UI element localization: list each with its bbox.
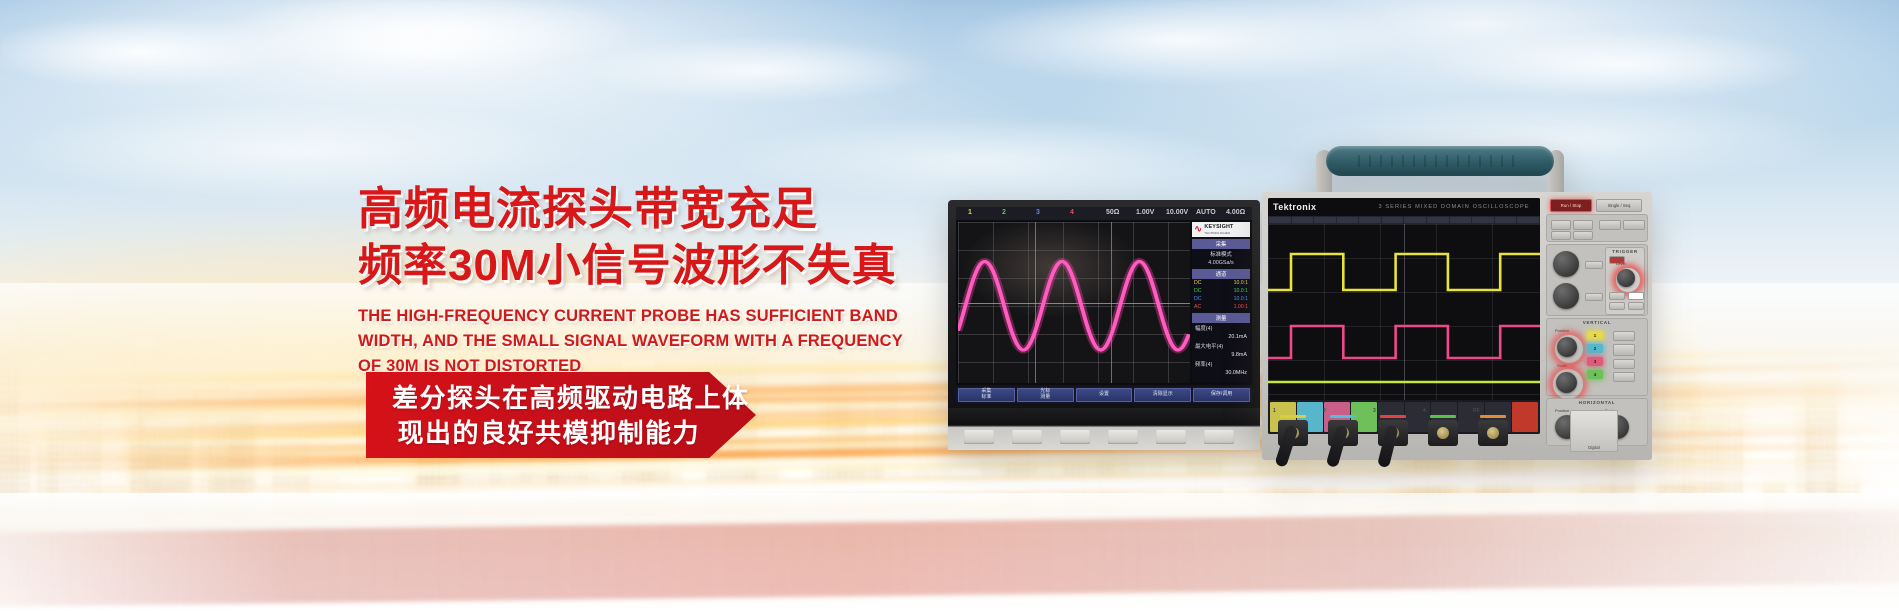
scope-a-softkey[interactable]: 采集标准: [958, 388, 1015, 402]
scope-a-channel-row: AC1.00:1: [1192, 303, 1250, 311]
scope-a-softkey-bar[interactable]: 采集标准光标测量设置清除显示保存/调用: [956, 387, 1252, 403]
trigger-slope-button[interactable]: [1628, 292, 1644, 300]
multipurpose-knob-b[interactable]: [1553, 283, 1579, 309]
scope-a-measurement-row: 幅度(4)20.1mA: [1192, 323, 1250, 341]
scope-b-display-header: Tektronix 3 SERIES MIXED DOMAIN OSCILLOS…: [1268, 198, 1540, 216]
scope-a-front-button[interactable]: [964, 430, 994, 444]
scope-a-readout: 4.00Ω: [1226, 209, 1245, 216]
scope-a-channel-row: DC10.0:1: [1192, 279, 1250, 287]
ribbon-line-2: 现出的良好共模抑制能力: [392, 416, 750, 451]
scope-a-channel-row: DC10.0:1: [1192, 295, 1250, 303]
tektronix-model: 3 SERIES MIXED DOMAIN OSCILLOSCOPE: [1378, 204, 1529, 210]
scope-a-measurement-row: 频率(4)30.0MHz: [1192, 359, 1250, 377]
scope-b-menu-item[interactable]: [1337, 217, 1359, 223]
scope-a-measurement-rows: 幅度(4)20.1mA最大电平(4)9.8mA频率(4)30.0MHz: [1192, 323, 1250, 377]
english-subtitle: THE HIGH-FREQUENCY CURRENT PROBE HAS SUF…: [358, 304, 918, 379]
trigger-level-knob[interactable]: [1617, 269, 1635, 287]
scope-b-menu-item[interactable]: [1404, 217, 1426, 223]
scope-b-waveform-traces: [1268, 224, 1540, 400]
tektronix-oscilloscope: Tektronix 3 SERIES MIXED DOMAIN OSCILLOS…: [1262, 150, 1652, 460]
scope-b-menu-item[interactable]: [1517, 217, 1539, 223]
scope-a-readout: 50Ω: [1106, 209, 1119, 216]
vertical-scale-knob[interactable]: [1556, 372, 1577, 393]
scope-b-menu-item[interactable]: [1292, 217, 1314, 223]
scope-b-menu-item[interactable]: [1495, 217, 1517, 223]
scope-a-softkey[interactable]: 清除显示: [1134, 388, 1191, 402]
scope-a-channel-label-1: 1: [968, 209, 972, 216]
english-line-1: THE HIGH-FREQUENCY CURRENT PROBE HAS SUF…: [358, 304, 918, 329]
digital-module-label: Digital: [1571, 445, 1617, 450]
scope-b-menu-item[interactable]: [1382, 217, 1404, 223]
scope-a-channel-row: DC10.0:1: [1192, 287, 1250, 295]
trigger-source-button[interactable]: [1609, 302, 1625, 310]
scope-b-menu-item[interactable]: [1314, 217, 1336, 223]
bnc-connector-4[interactable]: [1428, 420, 1458, 446]
ribbon-text: 差分探头在高频驱动电路上体 现出的良好共模抑制能力: [392, 381, 750, 450]
scope-a-sine-trace: [958, 222, 1190, 383]
scope-a-front-panel: [948, 408, 1260, 450]
multipurpose-knob-a[interactable]: [1553, 251, 1579, 277]
scope-b-connector-row: 1234RF: [1268, 402, 1546, 458]
connector-color-bar: [1330, 415, 1356, 418]
scope-a-sidebar: ∿ KEYSIGHT TECHNOLOGIES 采集 标准模式 4.00GSa/…: [1192, 222, 1250, 383]
scope-a-ch-header: 通道: [1192, 269, 1250, 279]
channel-button-1[interactable]: 1: [1587, 331, 1603, 340]
utility-btn-1[interactable]: [1551, 220, 1571, 230]
utility-btn-6[interactable]: [1573, 231, 1593, 240]
utility-btn-4[interactable]: [1623, 220, 1645, 230]
knob-b-button[interactable]: [1585, 293, 1603, 301]
scope-a-front-button[interactable]: [1204, 430, 1234, 444]
headline-block: 高频电流探头带宽充足 频率30M小信号波形不失真 THE HIGH-FREQUE…: [358, 182, 918, 379]
promo-banner: 高频电流探头带宽充足 频率30M小信号波形不失真 THE HIGH-FREQUE…: [0, 0, 1899, 613]
scope-b-menu-item[interactable]: [1427, 217, 1449, 223]
scope-b-menu-item[interactable]: [1450, 217, 1472, 223]
scope-a-front-button[interactable]: [1060, 430, 1090, 444]
handle-grip: [1326, 146, 1554, 176]
connector-color-bar: [1380, 415, 1406, 418]
scope-b-display: Tektronix 3 SERIES MIXED DOMAIN OSCILLOS…: [1268, 198, 1540, 434]
scope-b-chassis: Tektronix 3 SERIES MIXED DOMAIN OSCILLOS…: [1262, 192, 1652, 460]
connector-label-3: 3: [1373, 408, 1376, 414]
scope-a-channel-label-3: 3: [1036, 209, 1040, 216]
channel-button-3[interactable]: 3: [1587, 357, 1603, 366]
utility-button-group: [1546, 214, 1648, 242]
keysight-brand-sub: TECHNOLOGIES: [1204, 231, 1230, 235]
connector-label-RF: RF: [1473, 408, 1480, 414]
scope-b-graticule: [1268, 224, 1540, 400]
trigger-mode-button[interactable]: [1609, 292, 1625, 300]
utility-btn-3[interactable]: [1599, 220, 1621, 230]
scope-b-menu-item[interactable]: [1472, 217, 1494, 223]
scope-a-graticule: [958, 222, 1190, 383]
knob-a-button[interactable]: [1585, 261, 1603, 269]
scope-a-acq-header: 采集: [1192, 239, 1250, 249]
scope-a-meas-header: 测量: [1192, 313, 1250, 323]
scope-b-menu-item[interactable]: [1269, 217, 1291, 223]
scope-a-softkey[interactable]: 设置: [1076, 388, 1133, 402]
scope-a-readout: 10.00V: [1166, 209, 1188, 216]
horizontal-group-label: HORIZONTAL: [1547, 400, 1647, 405]
scope-b-menu-bar[interactable]: [1268, 216, 1540, 224]
scope-a-readout: AUTO: [1196, 209, 1216, 216]
scope-a-front-button[interactable]: [1108, 430, 1138, 444]
aux-btn-1[interactable]: [1613, 331, 1635, 341]
connector-label-4: 4: [1423, 408, 1426, 414]
trigger-group-label: TRIGGER: [1606, 249, 1644, 254]
scope-a-channel-label-2: 2: [1002, 209, 1006, 216]
scope-a-measurement-row: 最大电平(4)9.8mA: [1192, 341, 1250, 359]
horizontal-position-label: Position: [1555, 408, 1569, 413]
bnc-connector-RF[interactable]: [1478, 420, 1508, 446]
connector-color-bar: [1430, 415, 1456, 418]
digital-probe-module: Digital: [1570, 410, 1618, 452]
ribbon-line-1: 差分探头在高频驱动电路上体: [392, 381, 750, 416]
single-seq-button[interactable]: Single / Seq: [1596, 199, 1642, 212]
ref-button[interactable]: [1613, 359, 1635, 369]
vertical-group-label: VERTICAL: [1547, 320, 1647, 325]
channel-button-2[interactable]: 2: [1587, 344, 1603, 353]
scope-b-menu-item[interactable]: [1359, 217, 1381, 223]
run-stop-button[interactable]: Run / Stop: [1550, 199, 1592, 212]
headline-line-1: 高频电流探头带宽充足: [358, 182, 918, 237]
red-arrow-ribbon: 差分探头在高频驱动电路上体 现出的良好共模抑制能力: [366, 372, 756, 458]
headline-line-2: 频率30M小信号波形不失真: [358, 239, 918, 293]
scope-a-softkey[interactable]: 保存/调用: [1193, 388, 1250, 402]
scope-b-control-panel: Run / Stop Single / Seq TRIGG: [1546, 196, 1648, 398]
scope-a-topbar: 123450Ω1.00V10.00VAUTO4.00Ω: [956, 207, 1252, 220]
vertical-group: VERTICAL Position Scale 1234: [1546, 318, 1648, 396]
scope-a-front-button[interactable]: [1156, 430, 1186, 444]
utility-btn-5[interactable]: [1551, 231, 1571, 240]
scope-a-channel-label-4: 4: [1070, 209, 1074, 216]
scope-a-display: 123450Ω1.00V10.00VAUTO4.00Ω ∿ KEYSIGHT T…: [956, 207, 1252, 385]
keysight-brand: KEYSIGHT: [1204, 224, 1233, 230]
english-line-2: WIDTH, AND THE SMALL SIGNAL WAVEFORM WIT…: [358, 329, 918, 354]
scope-a-front-button[interactable]: [1012, 430, 1042, 444]
connector-color-bar: [1280, 415, 1306, 418]
scope-a-acq-rate: 4.00GSa/s: [1192, 259, 1250, 267]
scope-a-softkey[interactable]: 光标测量: [1017, 388, 1074, 402]
scope-a-acq-mode: 标准模式: [1192, 249, 1250, 259]
utility-btn-2[interactable]: [1573, 220, 1593, 230]
trigger-group: TRIGGER Level: [1605, 247, 1645, 315]
vertical-position-knob[interactable]: [1557, 337, 1577, 357]
scope-a-channel-rows: DC10.0:1DC10.0:1DC10.0:1AC1.00:1: [1192, 279, 1250, 311]
tektronix-brand: Tektronix: [1268, 202, 1316, 212]
digital-aux-button[interactable]: [1613, 344, 1635, 356]
connector-color-bar: [1480, 415, 1506, 418]
keysight-logo: ∿ KEYSIGHT TECHNOLOGIES: [1192, 222, 1250, 237]
bus-button[interactable]: [1613, 372, 1635, 382]
multipurpose-knob-group: TRIGGER Level: [1546, 244, 1648, 316]
keysight-oscilloscope: 123450Ω1.00V10.00VAUTO4.00Ω ∿ KEYSIGHT T…: [948, 200, 1260, 450]
trigger-menu-button[interactable]: [1628, 302, 1644, 310]
keysight-wave-icon: ∿: [1194, 225, 1202, 235]
scope-a-readout: 1.00V: [1136, 209, 1154, 216]
channel-button-4[interactable]: 4: [1587, 370, 1603, 379]
connector-label-2: 2: [1323, 408, 1326, 414]
connector-label-1: 1: [1273, 408, 1276, 414]
trigger-level-label: Level: [1616, 261, 1626, 266]
